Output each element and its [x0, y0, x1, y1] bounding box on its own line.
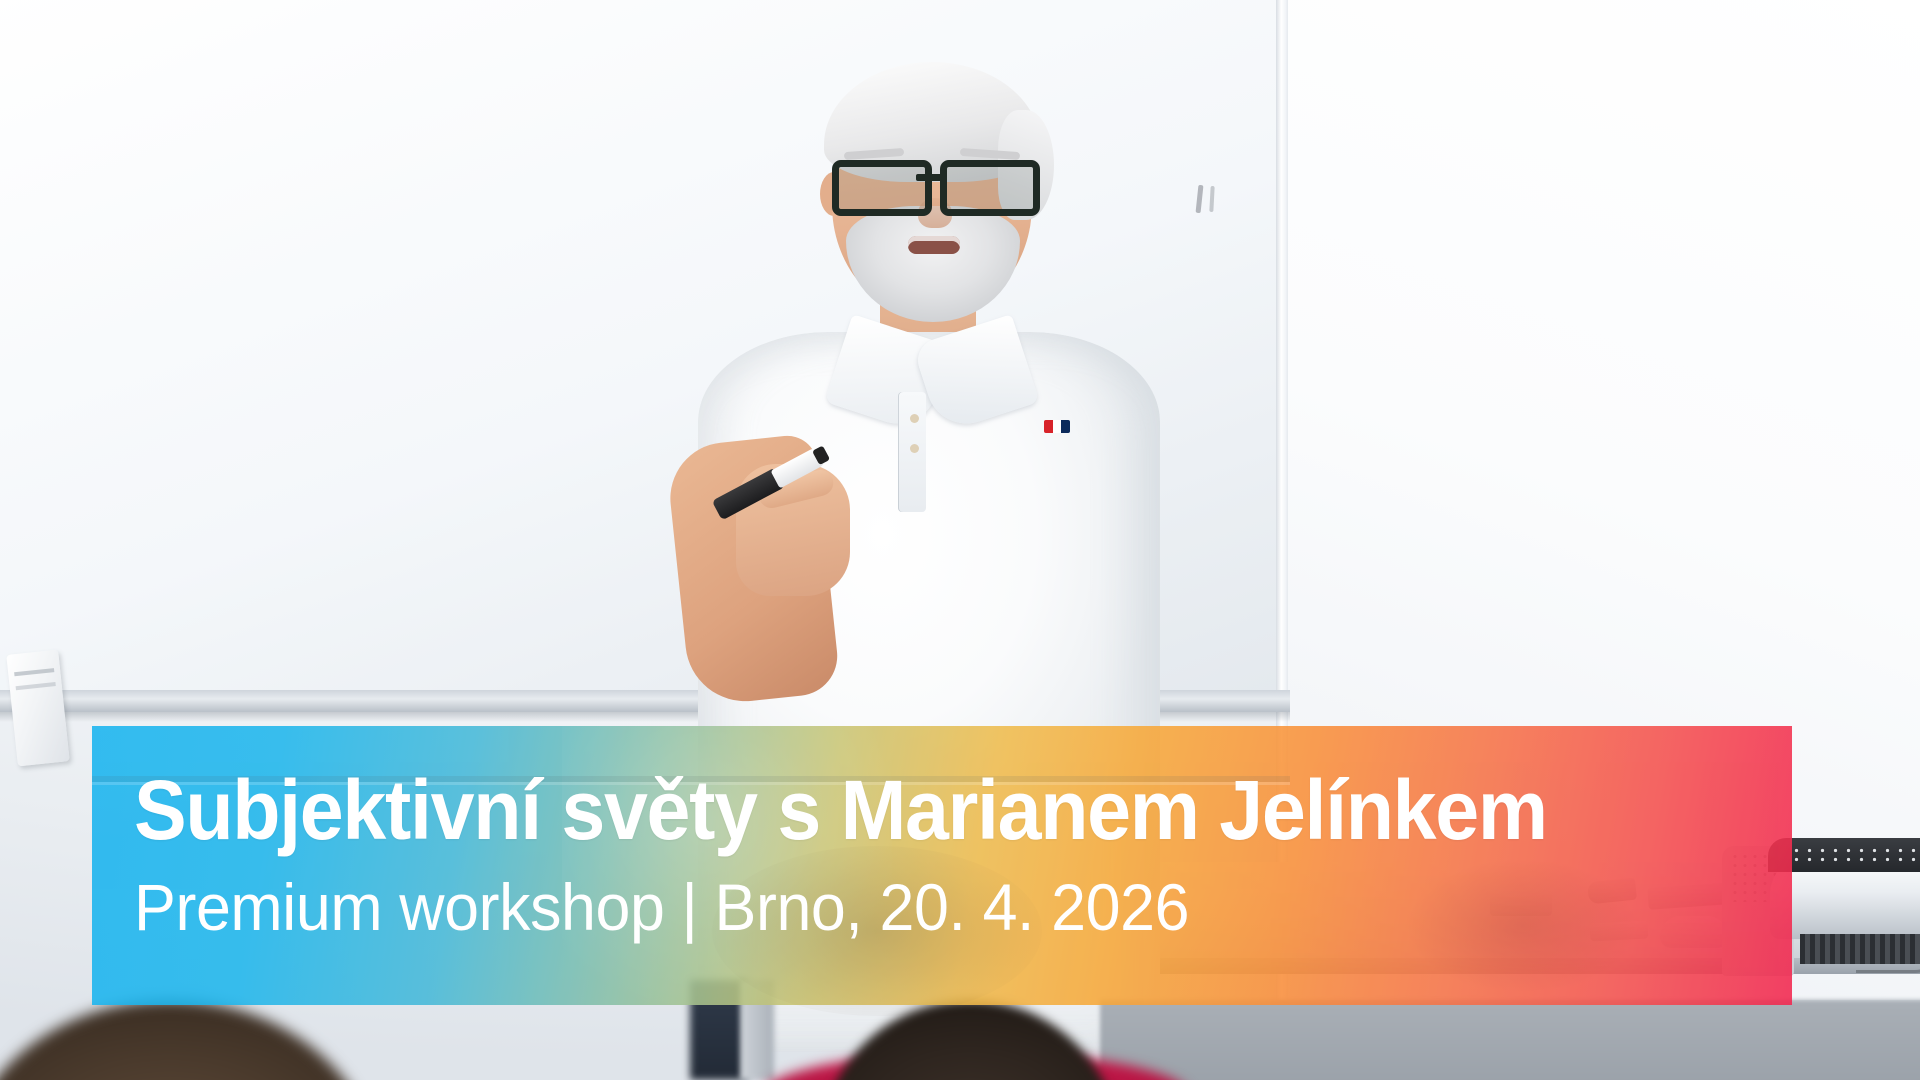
banner-text-block: Subjektivní světy s Marianem Jelínkem Pr… — [92, 726, 1792, 1005]
glasses-lens-right — [940, 160, 1040, 216]
eyeglasses-icon — [830, 160, 1036, 202]
speaker-mouth — [908, 236, 960, 254]
event-subtitle: Premium workshop | Brno, 20. 4. 2026 — [134, 874, 1189, 940]
glasses-lens-left — [832, 160, 932, 216]
speaker-shirt-button — [910, 414, 919, 423]
power-cable — [1856, 930, 1920, 973]
speaker-shirt-button — [910, 444, 919, 453]
promo-banner-image: Subjektivní světy s Marianem Jelínkem Pr… — [0, 0, 1920, 1080]
projector-unit-grille — [1790, 846, 1920, 866]
shirt-brand-logo — [1044, 420, 1070, 433]
event-title: Subjektivní světy s Marianem Jelínkem — [134, 768, 1547, 852]
floor-area — [1100, 1000, 1920, 1080]
